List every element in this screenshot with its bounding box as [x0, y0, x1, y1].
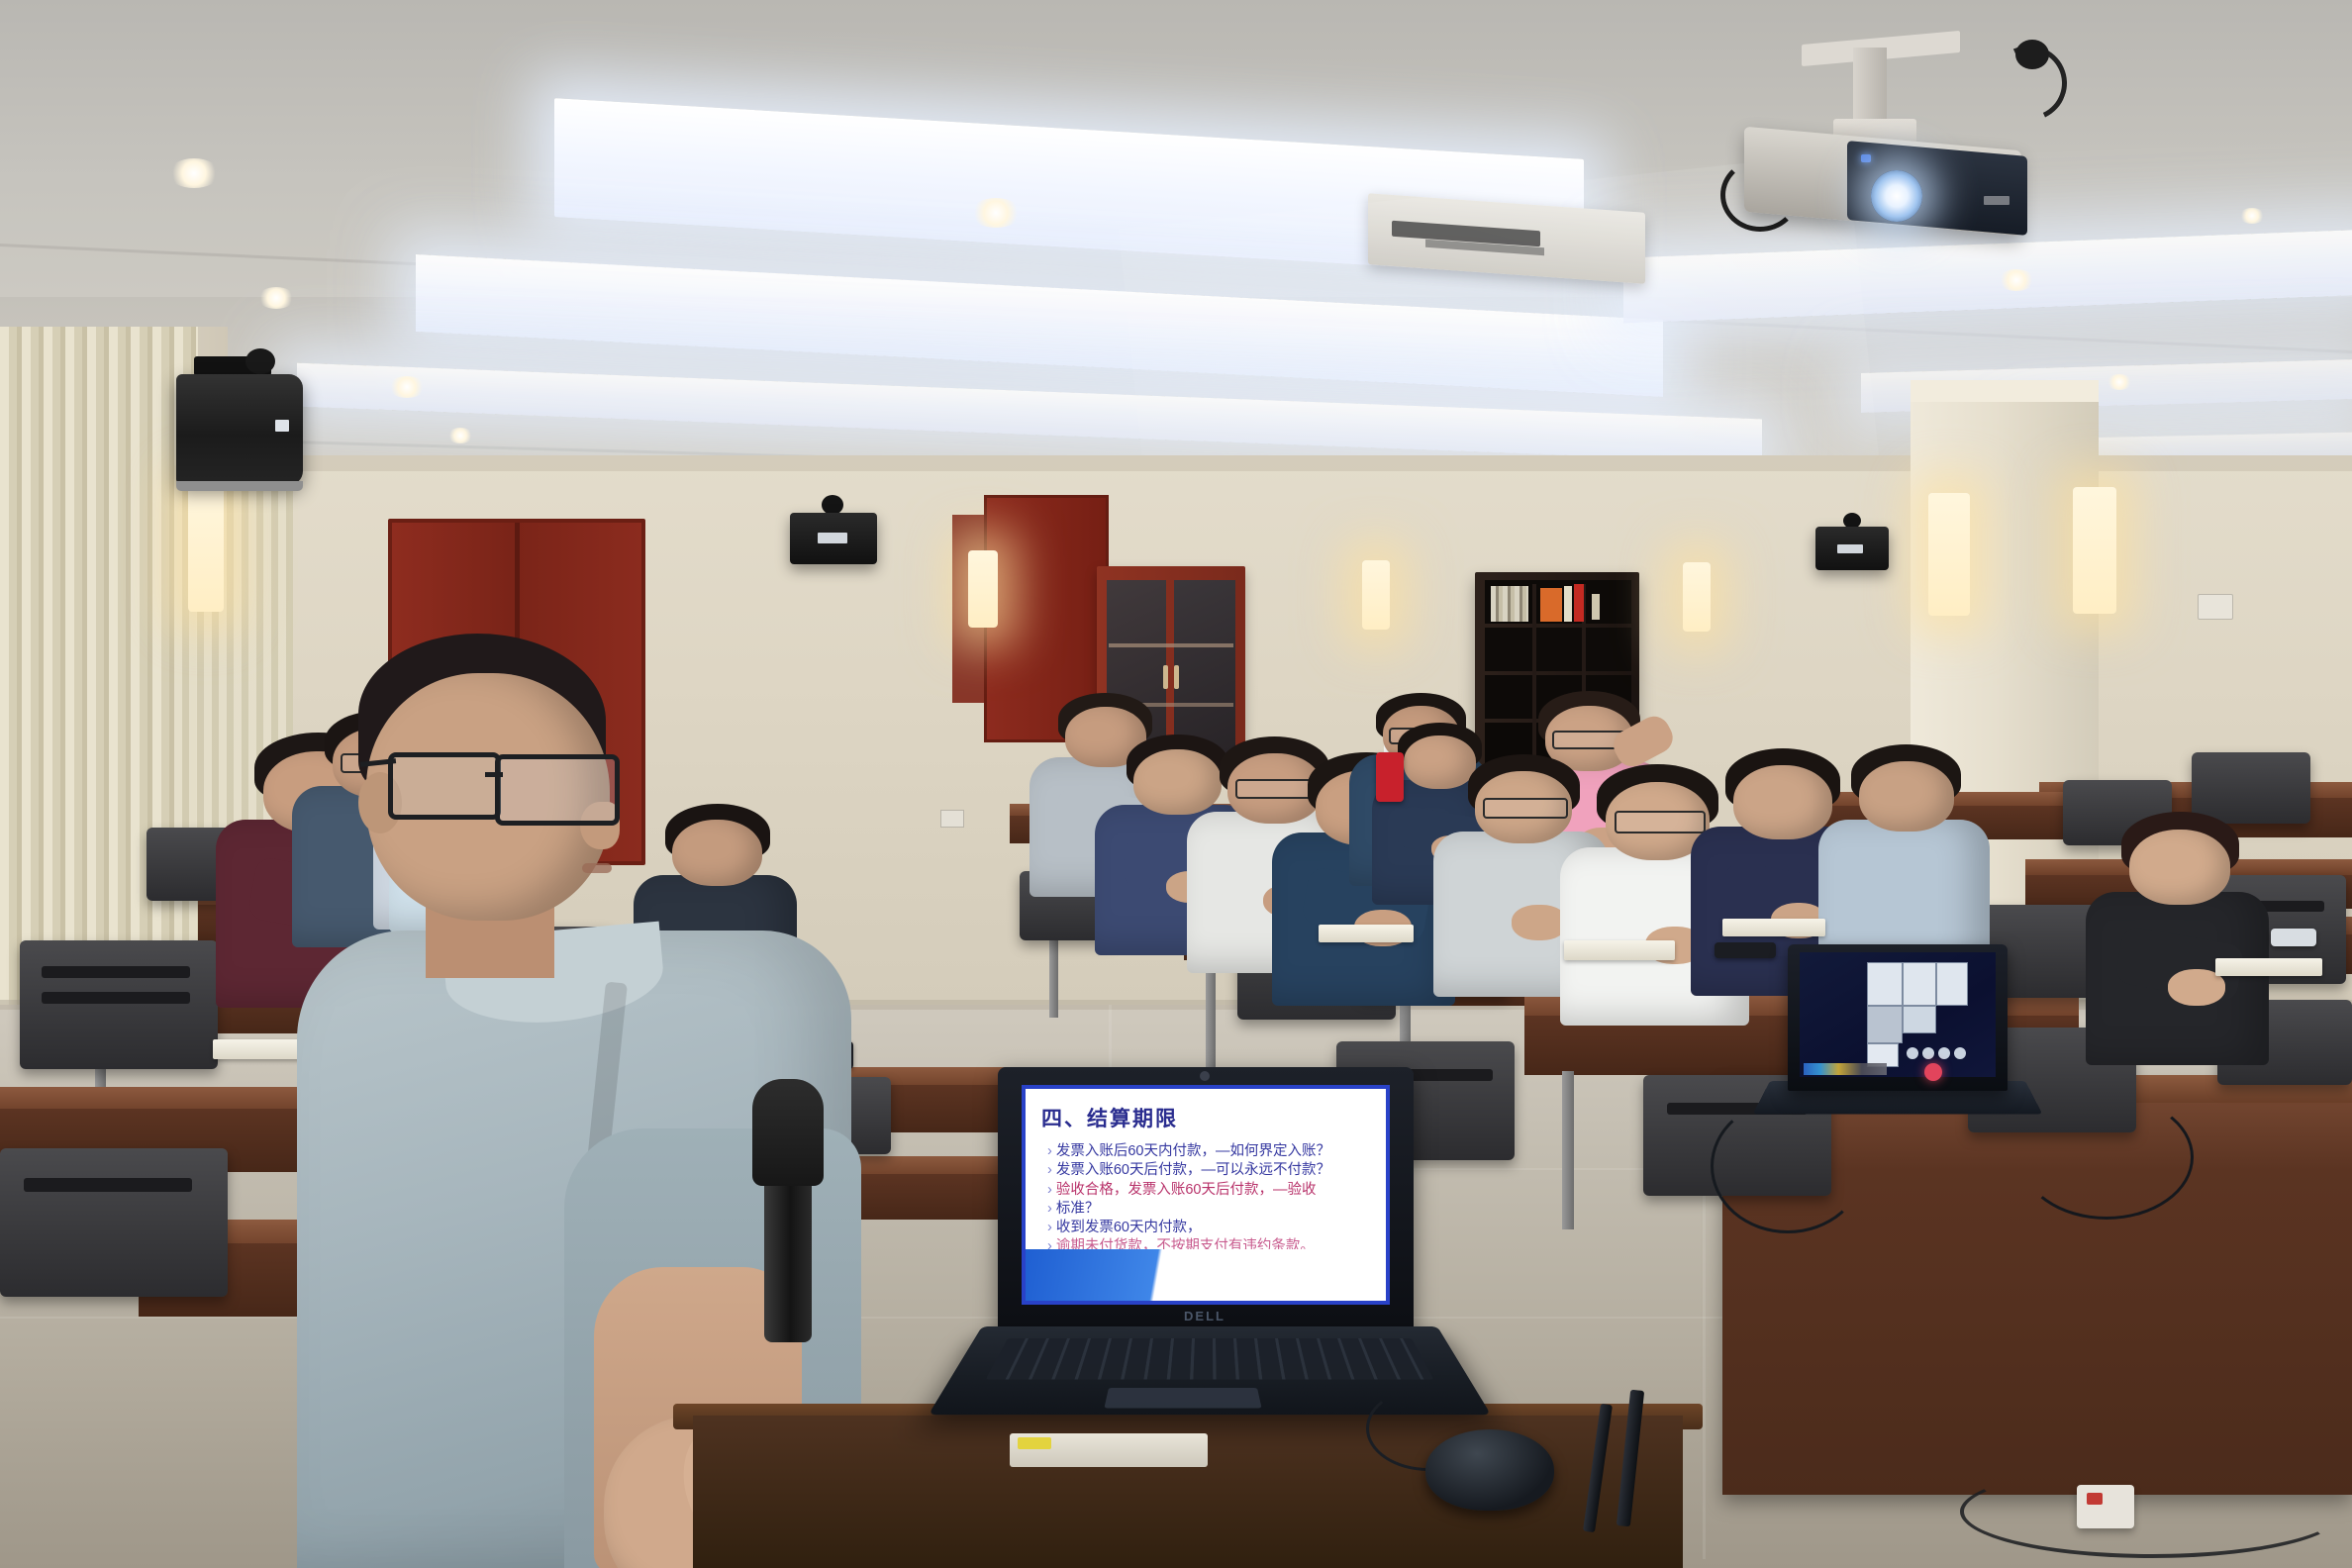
speaker-badge-center: [818, 533, 847, 543]
audience-member-label: man-glasses-back-row: [1368, 693, 1369, 694]
slide-bullet: 验收合格，发票入账60天后付款，—验收: [1047, 1181, 1376, 1200]
audience-member-label: man-striped-back: [1049, 693, 1050, 694]
audience-member-label: woman-floral-dress: [1117, 735, 1118, 735]
audience-glasses-icon: [1483, 798, 1568, 819]
audience-member-label: man-maroon-shirt: [243, 733, 244, 734]
downlight-icon: [1998, 269, 2035, 291]
smartphone-icon[interactable]: [1715, 942, 1776, 958]
presenter-label: presenter: [297, 634, 298, 635]
book-red: [1574, 584, 1584, 622]
wall-switch-plate[interactable]: [2198, 594, 2233, 620]
laptop-brand-logo: DELL: [1174, 1309, 1235, 1323]
downlight-icon: [2239, 208, 2265, 224]
wall-sconce-4: [1683, 562, 1711, 632]
audience-member-label: woman-black-top-right: [2110, 812, 2111, 813]
wall-sconce-2: [968, 550, 998, 628]
speaker-bracket-center: [822, 495, 843, 515]
wall-sconce-5: [1928, 493, 1970, 616]
wall-outlet[interactable]: [940, 810, 964, 828]
slide-bullet: 收到发票60天内付款，: [1047, 1219, 1376, 1237]
chair[interactable]: [0, 1148, 228, 1297]
end-call-button[interactable]: [1924, 1063, 1942, 1081]
downlight-icon: [168, 158, 220, 188]
notebook[interactable]: [1722, 919, 1825, 936]
book-cream: [1592, 594, 1600, 620]
video-participant-tile: [1867, 1006, 1903, 1043]
presenter-glasses-bridge: [485, 772, 503, 777]
downlight-icon: [388, 376, 426, 398]
laptop-webcam-icon: [1200, 1071, 1210, 1081]
audience-member-label: man-white-tee-glasses: [1210, 736, 1211, 737]
chair[interactable]: [20, 940, 218, 1069]
bookshelf-row-2: [1485, 628, 1631, 671]
window-curtain-left: [0, 327, 198, 1010]
wall-sconce-1: [188, 485, 224, 612]
projector-brand-badge: [1984, 196, 2009, 205]
table-leg: [1562, 1071, 1574, 1229]
downlight-icon: [2107, 374, 2132, 390]
power-indicator-icon: [2087, 1493, 2103, 1505]
video-laptop-cable-2: [1711, 1099, 1865, 1233]
presenter-glasses-right-lens: [495, 754, 620, 826]
video-participant-tile: [1903, 962, 1936, 1006]
notebook[interactable]: [2215, 958, 2322, 976]
slide-footer-graphic: [1026, 1249, 1386, 1301]
speaker-base-left: [176, 481, 303, 491]
video-call-control-icon[interactable]: [1907, 1047, 1918, 1059]
mouse-icon[interactable]: [1425, 1429, 1554, 1511]
power-adapter: [2077, 1485, 2134, 1528]
laptop-keyboard[interactable]: [986, 1338, 1434, 1380]
audience-member-label: woman-red-phone: [1390, 723, 1391, 724]
audience-hand: [1512, 905, 1566, 939]
audience-head: [1859, 761, 1953, 832]
video-call-control-icon[interactable]: [1954, 1047, 1966, 1059]
downlight-icon: [447, 428, 473, 443]
video-participant-tile: [1903, 1006, 1936, 1033]
microphone-icon[interactable]: [752, 1079, 824, 1186]
audience-member-label: woman-navy-pattern: [1715, 748, 1715, 749]
notebook[interactable]: [213, 1039, 308, 1059]
books-group-1: [1491, 586, 1528, 622]
slide: 四、结算期限 发票入账后60天内付款，—如何界定入账？ 发票入账60天后付款，—…: [1026, 1089, 1386, 1301]
audience-member-label: man-blue-stripe-polo: [1297, 752, 1298, 753]
projector-cable-knob: [2015, 40, 2049, 69]
notebook[interactable]: [1319, 925, 1414, 942]
video-participant-tile: [1936, 962, 1968, 1006]
slide-title: 四、结算期限: [1041, 1103, 1178, 1132]
slide-bullet-list: 发票入账后60天内付款，—如何界定入账？ 发票入账60天后付款，—可以永远不付款…: [1047, 1142, 1376, 1257]
audience-member-label: woman-pink-top: [1528, 691, 1529, 692]
floor-power-cable: [1960, 1465, 2344, 1558]
projector-lens-icon: [1871, 170, 1922, 222]
smartphone-icon[interactable]: [2271, 929, 2316, 946]
book-white: [1564, 586, 1572, 622]
presentation-screen[interactable]: 四、结算期限 发票入账后60天内付款，—如何界定入账？ 发票入账60天后付款，—…: [1022, 1085, 1390, 1305]
wall-column-right-top: [1911, 380, 2099, 402]
presenter-glasses-left-lens: [388, 752, 501, 820]
laptop-touchpad[interactable]: [1104, 1388, 1261, 1408]
audience-member-label: woman-grey-blouse: [1457, 754, 1458, 755]
audience-head: [1733, 765, 1832, 838]
slide-bullet-cont: 标准？: [1047, 1200, 1376, 1219]
video-call-control-icon[interactable]: [1938, 1047, 1950, 1059]
speaker-swivel-left: [245, 348, 275, 374]
sticky-note-tag: [1018, 1437, 1051, 1449]
downlight-icon: [257, 287, 295, 309]
presenter-mouth: [582, 863, 612, 873]
slide-bullet: 发票入账60天后付款，—可以永远不付款？: [1047, 1161, 1376, 1180]
audience-glasses-icon: [1615, 811, 1706, 833]
wall-sconce-3: [1362, 560, 1390, 630]
video-laptop-cable: [2019, 1095, 2194, 1220]
downlight-icon: [970, 198, 1022, 228]
cabinet-shelf-1: [1109, 643, 1233, 647]
conference-room-photo: man-maroon-shirtman-glasses-plaidman-whi…: [0, 0, 2352, 1568]
video-call-control-icon[interactable]: [1922, 1047, 1934, 1059]
audience-member-label: woman-blue-shirt: [1841, 744, 1842, 745]
audience-member-label: woman-white-blouse: [1586, 764, 1587, 765]
speaker-badge-left: [275, 420, 289, 432]
notebook[interactable]: [1564, 940, 1675, 960]
speaker-badge-right: [1837, 544, 1863, 553]
audience-head: [2129, 830, 2230, 905]
wall-sconce-6: [2073, 487, 2116, 614]
smartphone-icon[interactable]: [1376, 752, 1404, 802]
projector-status-led-icon: [1861, 154, 1871, 162]
video-participant-tile: [1867, 962, 1903, 1006]
audience-head: [1133, 749, 1222, 815]
cabinet-handle-icon-2[interactable]: [1174, 665, 1179, 689]
slide-bullet: 发票入账后60天内付款，—如何界定入账？: [1047, 1142, 1376, 1161]
cabinet-handle-icon[interactable]: [1163, 665, 1168, 689]
microphone-handle[interactable]: [764, 1174, 812, 1342]
book-orange: [1540, 588, 1562, 622]
taskbar[interactable]: [1804, 1063, 1887, 1075]
